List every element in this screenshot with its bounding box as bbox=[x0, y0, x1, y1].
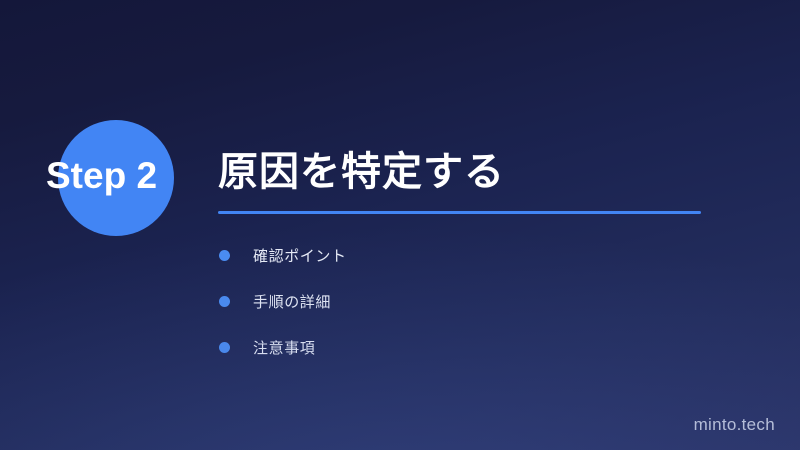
bullet-item-label: 確認ポイント bbox=[253, 245, 347, 266]
list-item: 手順の詳細 bbox=[219, 278, 679, 324]
bullet-item-label: 手順の詳細 bbox=[253, 291, 331, 312]
bullet-dot-icon bbox=[219, 296, 230, 307]
bullet-list: 確認ポイント 手順の詳細 注意事項 bbox=[219, 232, 679, 370]
page-title: 原因を特定する bbox=[218, 147, 505, 197]
bullet-dot-icon bbox=[219, 342, 230, 353]
list-item: 注意事項 bbox=[219, 324, 679, 370]
footer-brand: minto.tech bbox=[694, 415, 775, 435]
bullet-dot-icon bbox=[219, 250, 230, 261]
slide-canvas: Step 2 原因を特定する 確認ポイント 手順の詳細 注意事項 minto.t… bbox=[0, 0, 800, 450]
list-item: 確認ポイント bbox=[219, 232, 679, 278]
step-label: Step 2 bbox=[46, 154, 236, 198]
title-underline-rule bbox=[218, 211, 701, 214]
bullet-item-label: 注意事項 bbox=[253, 337, 315, 358]
